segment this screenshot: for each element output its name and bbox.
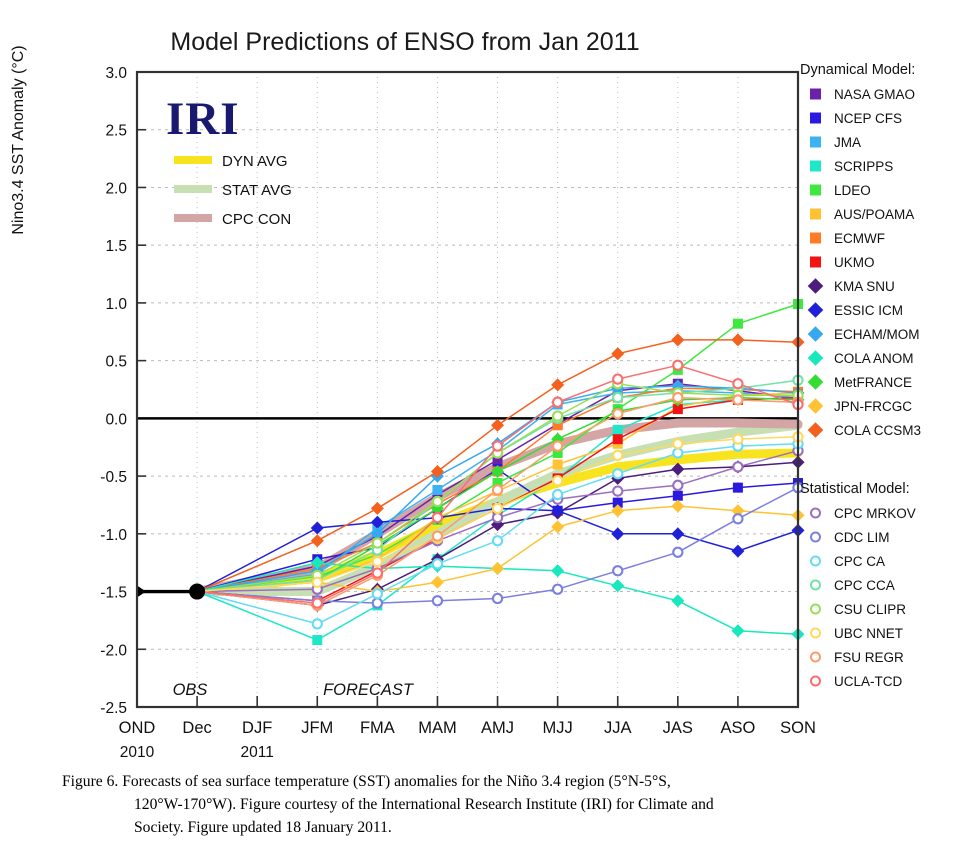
- y-axis-tick-label: -1.0: [100, 527, 127, 544]
- legend-item-cpc-ca[interactable]: CPC CA: [810, 549, 960, 573]
- circle-marker: [493, 441, 502, 450]
- x-axis-year-label: 2011: [241, 744, 274, 761]
- square-marker: [613, 425, 623, 435]
- circle-marker: [613, 393, 622, 402]
- circle-marker: [553, 490, 562, 499]
- square-marker: [733, 483, 743, 493]
- square-marker-icon: [810, 89, 821, 100]
- x-axis-tick-label: MJJ: [543, 719, 573, 737]
- circle-marker: [373, 557, 382, 566]
- x-axis-tick-label: JFM: [301, 719, 333, 737]
- x-axis-tick-label: JJA: [604, 719, 632, 737]
- y-axis-tick-label: 1.5: [105, 238, 127, 255]
- square-marker: [673, 491, 683, 501]
- circle-marker-icon: [810, 508, 821, 519]
- iri-logo: IRI: [166, 93, 240, 145]
- diamond-marker-icon: [808, 278, 824, 294]
- circle-marker-icon: [810, 604, 821, 615]
- legend-item-label: MetFRANCE: [834, 375, 912, 390]
- inline-legend-label: CPC CON: [222, 211, 291, 228]
- y-axis-tick-label: -2.0: [100, 642, 127, 659]
- legend-item-echam-mom[interactable]: ECHAM/MOM: [810, 322, 960, 346]
- circle-marker: [673, 448, 682, 457]
- legend-item-label: AUS/POAMA: [834, 207, 914, 222]
- circle-marker: [493, 513, 502, 522]
- circle-marker: [733, 379, 742, 388]
- square-marker: [432, 485, 442, 495]
- x-axis-tick-label: SON: [780, 719, 816, 737]
- legend-item-label: COLA CCSM3: [834, 423, 921, 438]
- square-marker-icon: [810, 185, 821, 196]
- y-axis-tick-label: -1.5: [100, 585, 127, 602]
- circle-marker-icon: [810, 532, 821, 543]
- circle-marker: [613, 469, 622, 478]
- circle-marker-icon: [810, 580, 821, 591]
- circle-marker: [553, 398, 562, 407]
- diamond-marker-icon: [808, 326, 824, 342]
- circle-marker: [673, 481, 682, 490]
- legend-item-cpc-mrkov[interactable]: CPC MRKOV: [810, 501, 960, 525]
- circle-marker: [613, 451, 622, 460]
- legend-item-label: KMA SNU: [834, 279, 895, 294]
- enso-forecast-figure: Model Predictions of ENSO from Jan 2011 …: [0, 0, 961, 867]
- diamond-marker-icon: [808, 374, 824, 390]
- x-axis-tick-label: AMJ: [481, 719, 514, 737]
- caption-line-1: Figure 6. Forecasts of sea surface tempe…: [62, 770, 917, 793]
- legend-item-label: NASA GMAO: [834, 87, 915, 102]
- legend-item-label: UCLA-TCD: [834, 674, 902, 689]
- diamond-marker-icon: [808, 422, 824, 438]
- legend-item-kma-snu[interactable]: KMA SNU: [810, 274, 960, 298]
- circle-marker: [613, 409, 622, 418]
- legend-item-label: UBC NNET: [834, 626, 903, 641]
- circle-marker: [673, 439, 682, 448]
- circle-marker: [433, 497, 442, 506]
- diamond-marker-icon: [808, 350, 824, 366]
- circle-marker: [493, 485, 502, 494]
- legend-dynamical-list: NASA GMAONCEP CFSJMASCRIPPSLDEOAUS/POAMA…: [810, 82, 960, 442]
- y-axis-tick-label: 2.0: [105, 180, 127, 197]
- square-marker: [312, 635, 322, 645]
- legend-item-label: UKMO: [834, 255, 875, 270]
- legend-item-label: COLA ANOM: [834, 351, 914, 366]
- obs-annotation: OBS: [173, 681, 208, 699]
- diamond-marker-icon: [808, 302, 824, 318]
- x-axis-tick-label: DJF: [242, 719, 272, 737]
- legend-item-label: FSU REGR: [834, 650, 904, 665]
- legend-item-cola-anom[interactable]: COLA ANOM: [810, 346, 960, 370]
- square-marker: [553, 460, 563, 470]
- square-marker-icon: [810, 137, 821, 148]
- legend-dynamical-header: Dynamical Model:: [800, 62, 915, 78]
- circle-marker: [673, 548, 682, 557]
- figure-caption: Figure 6. Forecasts of sea surface tempe…: [62, 770, 917, 839]
- legend-item-cpc-cca[interactable]: CPC CCA: [810, 573, 960, 597]
- legend-statistical-header: Statistical Model:: [800, 481, 910, 497]
- legend-item-label: SCRIPPS: [834, 159, 893, 174]
- circle-marker: [373, 538, 382, 547]
- legend-item-ucla-tcd[interactable]: UCLA-TCD: [810, 669, 960, 693]
- legend-item-ncep-cfs[interactable]: NCEP CFS: [810, 106, 960, 130]
- circle-marker: [313, 598, 322, 607]
- x-axis-tick-label: ASO: [720, 719, 755, 737]
- circle-marker: [733, 462, 742, 471]
- y-axis-tick-label: 0.5: [105, 354, 127, 371]
- x-axis-tick-label: OND: [119, 719, 156, 737]
- circle-marker: [433, 596, 442, 605]
- caption-line-3: Society. Figure updated 18 January 2011.: [62, 816, 917, 839]
- legend-item-label: JMA: [834, 135, 861, 150]
- legend-item-jma[interactable]: JMA: [810, 130, 960, 154]
- legend-item-essic-icm[interactable]: ESSIC ICM: [810, 298, 960, 322]
- legend-item-cdc-lim[interactable]: CDC LIM: [810, 525, 960, 549]
- square-marker-icon: [810, 257, 821, 268]
- y-axis-tick-label: 2.5: [105, 123, 127, 140]
- legend-item-csu-clipr[interactable]: CSU CLIPR: [810, 597, 960, 621]
- circle-marker: [553, 441, 562, 450]
- circle-marker: [373, 589, 382, 598]
- circle-marker: [673, 393, 682, 402]
- legend-item-nasa-gmao[interactable]: NASA GMAO: [810, 82, 960, 106]
- legend-item-label: ECHAM/MOM: [834, 327, 920, 342]
- circle-marker-icon: [810, 676, 821, 687]
- circle-marker: [433, 559, 442, 568]
- legend-item-label: CPC CCA: [834, 578, 895, 593]
- y-axis-tick-label: 1.0: [105, 296, 127, 313]
- circle-marker: [733, 395, 742, 404]
- legend-item-ldeo[interactable]: LDEO: [810, 178, 960, 202]
- x-axis-tick-label: FMA: [360, 719, 395, 737]
- x-axis-tick-label: JAS: [663, 719, 693, 737]
- y-axis-tick-label: -2.5: [100, 700, 127, 717]
- circle-marker: [313, 578, 322, 587]
- legend-item-label: JPN-FRCGC: [834, 399, 912, 414]
- y-axis-tick-label: 3.0: [105, 65, 127, 82]
- circle-marker: [433, 513, 442, 522]
- legend-item-label: LDEO: [834, 183, 871, 198]
- square-marker-icon: [810, 161, 821, 172]
- circle-marker: [733, 514, 742, 523]
- circle-marker: [433, 532, 442, 541]
- circle-marker: [373, 568, 382, 577]
- inline-legend-label: DYN AVG: [222, 153, 288, 170]
- diamond-marker-icon: [808, 398, 824, 414]
- caption-line-2: 120°W-170°W). Figure courtesy of the Int…: [62, 793, 917, 816]
- legend-item-label: CPC CA: [834, 554, 885, 569]
- circle-marker: [553, 585, 562, 594]
- legend-item-label: CPC MRKOV: [834, 506, 916, 521]
- circle-marker-icon: [810, 652, 821, 663]
- circle-marker: [613, 487, 622, 496]
- legend-item-aus-poama[interactable]: AUS/POAMA: [810, 202, 960, 226]
- circle-marker: [373, 598, 382, 607]
- circle-marker: [553, 411, 562, 420]
- square-marker-icon: [810, 113, 821, 124]
- legend-item-label: CSU CLIPR: [834, 602, 906, 617]
- x-axis-tick-label: Dec: [182, 719, 211, 737]
- square-marker-icon: [810, 209, 821, 220]
- x-axis-year-label: 2010: [120, 744, 155, 761]
- circle-marker: [613, 566, 622, 575]
- legend-item-ukmo[interactable]: UKMO: [810, 250, 960, 274]
- forecast-annotation: FORECAST: [323, 681, 415, 699]
- square-marker-icon: [810, 233, 821, 244]
- circle-marker: [493, 536, 502, 545]
- x-axis-tick-label: MAM: [418, 719, 457, 737]
- legend-item-fsu-regr[interactable]: FSU REGR: [810, 645, 960, 669]
- legend-item-ecmwf[interactable]: ECMWF: [810, 226, 960, 250]
- circle-marker: [673, 361, 682, 370]
- legend-item-jpn-frcgc[interactable]: JPN-FRCGC: [810, 394, 960, 418]
- legend-item-cola-ccsm3[interactable]: COLA CCSM3: [810, 418, 960, 442]
- inline-legend-label: STAT AVG: [222, 182, 292, 199]
- legend-item-label: ECMWF: [834, 231, 885, 246]
- observation-hub-dot: [189, 584, 205, 600]
- legend-item-label: NCEP CFS: [834, 111, 902, 126]
- legend-statistical-list: CPC MRKOVCDC LIMCPC CACPC CCACSU CLIPRUB…: [810, 501, 960, 693]
- square-marker: [733, 319, 743, 329]
- y-axis-tick-label: 0.0: [105, 411, 127, 428]
- circle-marker: [553, 476, 562, 485]
- legend-item-ubc-nnet[interactable]: UBC NNET: [810, 621, 960, 645]
- circle-marker: [313, 619, 322, 628]
- legend-item-label: ESSIC ICM: [834, 303, 903, 318]
- square-marker: [613, 434, 623, 444]
- y-axis-tick-label: -0.5: [100, 469, 127, 486]
- circle-marker: [493, 594, 502, 603]
- circle-marker: [493, 504, 502, 513]
- legend-item-metfrance[interactable]: MetFRANCE: [810, 370, 960, 394]
- circle-marker-icon: [810, 628, 821, 639]
- legend-item-label: CDC LIM: [834, 530, 890, 545]
- circle-marker: [613, 375, 622, 384]
- legend-item-scripps[interactable]: SCRIPPS: [810, 154, 960, 178]
- circle-marker: [733, 435, 742, 444]
- circle-marker-icon: [810, 556, 821, 567]
